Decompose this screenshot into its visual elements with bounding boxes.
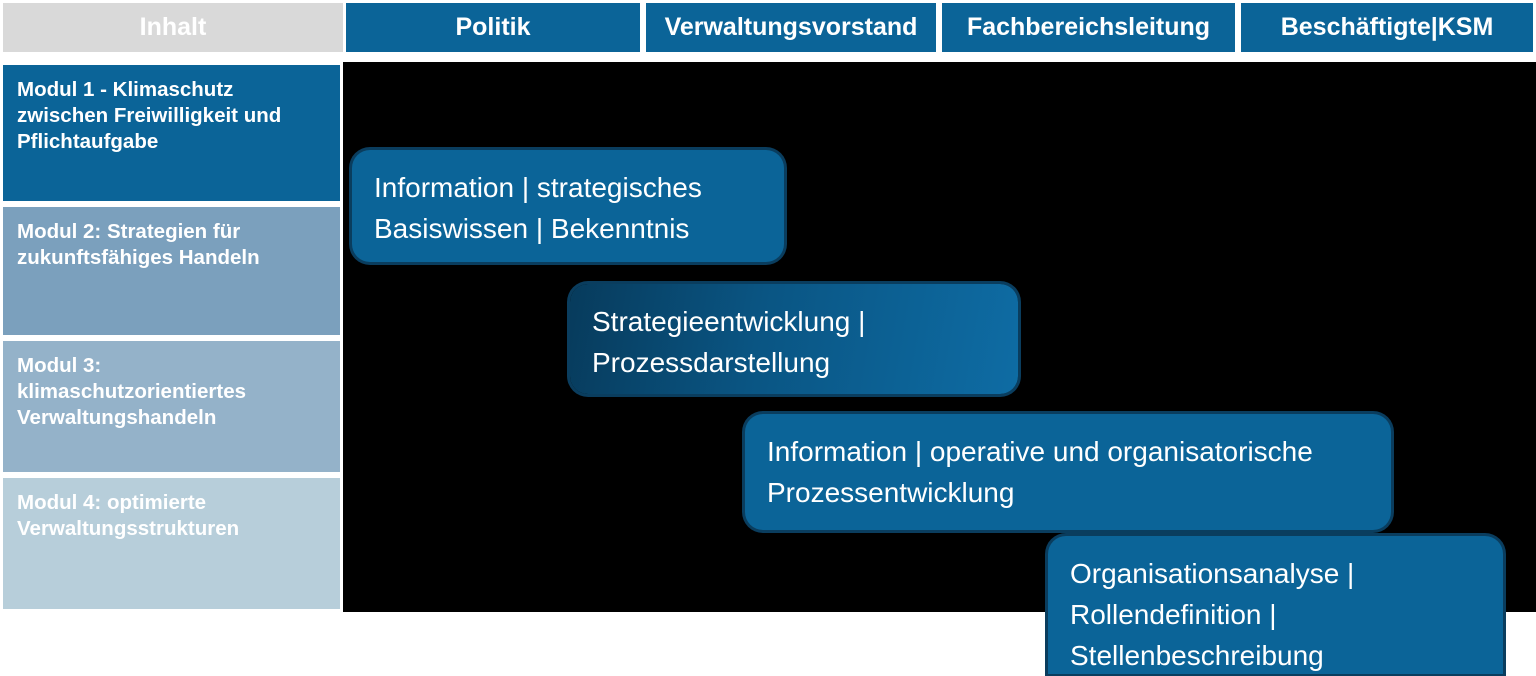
header-cell-inhalt: Inhalt [0,0,343,55]
header-cell-verwaltungsvorstand: Verwaltungsvorstand [643,0,939,55]
sidebar-item-modul-3: Modul 3: klimaschutzorientiertes Verwalt… [0,338,343,475]
stage-box-modul-3: Information | operative und organisatori… [745,414,1391,530]
stage-box-label: Organisationsanalyse | Rollendefinition … [1070,553,1483,676]
sidebar-item-label: Modul 2: Strategien für zukunftsfähiges … [17,219,330,271]
sidebar-item-modul-2: Modul 2: Strategien für zukunftsfähiges … [0,204,343,338]
sidebar-item-label: Modul 3: klimaschutzorientiertes Verwalt… [17,353,330,431]
header-cell-politik: Politik [343,0,643,55]
header-cell-fachbereichsleitung: Fachbereichsleitung [939,0,1238,55]
stage-box-modul-2: Strategieentwicklung | Prozessdarstellun… [570,284,1018,394]
slide-root: Inhalt Politik Verwaltungsvorstand Fachb… [0,0,1536,612]
header-label-verwaltungsvorstand: Verwaltungsvorstand [665,13,918,42]
module-sidebar: Modul 1 - Klimaschutz zwischen Freiwilli… [0,62,343,612]
header-row: Inhalt Politik Verwaltungsvorstand Fachb… [0,0,1536,55]
sidebar-item-label: Modul 4: optimierte Verwaltungsstrukture… [17,490,330,542]
sidebar-item-modul-4: Modul 4: optimierte Verwaltungsstrukture… [0,475,343,612]
header-label-inhalt: Inhalt [140,13,207,42]
stage-box-modul-4: Organisationsanalyse | Rollendefinition … [1048,536,1503,674]
diagram-canvas: Modul 1 - Klimaschutz zwischen Freiwilli… [0,62,1536,612]
stage-box-label: Information | operative und organisatori… [767,431,1371,513]
header-label-politik: Politik [455,13,530,42]
sidebar-item-label: Modul 1 - Klimaschutz zwischen Freiwilli… [17,77,330,155]
header-cell-beschaeftigte-ksm: Beschäftigte|KSM [1238,0,1536,55]
sidebar-item-modul-1: Modul 1 - Klimaschutz zwischen Freiwilli… [0,62,343,204]
header-label-fachbereichsleitung: Fachbereichsleitung [967,13,1210,42]
stage-box-label: Strategieentwicklung | Prozessdarstellun… [592,301,998,383]
stage-box-modul-1: Information | strategisches Basiswissen … [352,150,784,262]
header-label-beschaeftigte-ksm: Beschäftigte|KSM [1281,13,1494,42]
stage-box-label: Information | strategisches Basiswissen … [374,167,764,249]
